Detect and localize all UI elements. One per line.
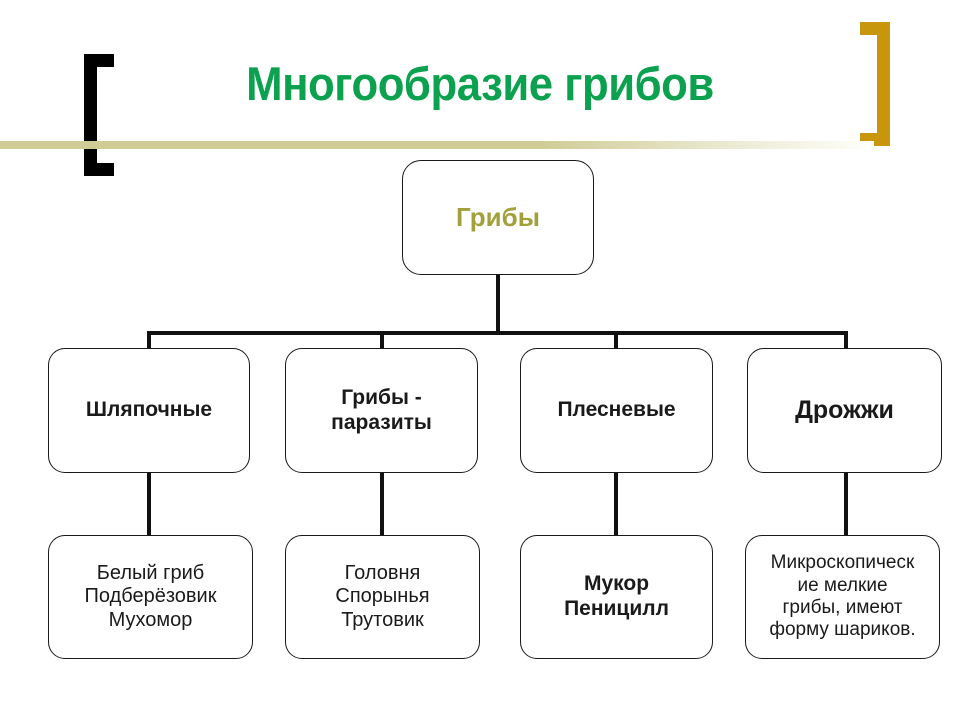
connector-node-2-to-leaf-2 [380, 472, 384, 536]
node-level3-hat-fungi-examples-label: Белый грибПодберёзовикМухомор [49, 562, 252, 633]
node-level3-hat-fungi-examples[interactable]: Белый грибПодберёзовикМухомор [48, 535, 253, 659]
connector-bus-to-node-4 [844, 331, 848, 349]
node-root[interactable]: Грибы [402, 160, 594, 275]
slide-canvas: Многообразие грибов Грибы Шляпочные Гриб… [0, 0, 960, 720]
node-level3-parasite-fungi-examples-label: ГоловняСпорыньяТрутовик [286, 562, 479, 633]
connector-node-3-to-leaf-3 [614, 472, 618, 536]
node-level2-parasite-fungi-label: Грибы -паразиты [286, 386, 477, 436]
connector-bus-to-node-1 [147, 331, 151, 349]
connector-bus-horizontal [148, 331, 846, 335]
node-level3-mold-fungi-examples[interactable]: МукорПеницилл [520, 535, 713, 659]
connector-node-4-to-leaf-4 [844, 472, 848, 536]
node-level2-mold-fungi-label: Плесневые [521, 398, 712, 423]
node-level3-parasite-fungi-examples[interactable]: ГоловняСпорыньяТрутовик [285, 535, 480, 659]
node-level2-yeast[interactable]: Дрожжи [747, 348, 942, 473]
node-level3-mold-fungi-examples-label: МукорПеницилл [521, 572, 712, 622]
node-level2-hat-fungi-label: Шляпочные [49, 398, 249, 423]
node-root-label: Грибы [403, 202, 593, 233]
connector-bus-to-node-3 [614, 331, 618, 349]
connector-node-1-to-leaf-1 [147, 472, 151, 536]
connector-bus-to-node-2 [380, 331, 384, 349]
node-level3-yeast-description-label: Микроскопические мелкиегрибы, имеютформу… [746, 552, 939, 642]
connector-root-to-bus [496, 275, 500, 333]
horizontal-rule-decoration [0, 141, 874, 149]
node-level3-yeast-description[interactable]: Микроскопические мелкиегрибы, имеютформу… [745, 535, 940, 659]
page-title: Многообразие грибов [34, 56, 927, 111]
node-level2-parasite-fungi[interactable]: Грибы -паразиты [285, 348, 478, 473]
node-level2-mold-fungi[interactable]: Плесневые [520, 348, 713, 473]
node-level2-yeast-label: Дрожжи [748, 396, 941, 426]
node-level2-hat-fungi[interactable]: Шляпочные [48, 348, 250, 473]
